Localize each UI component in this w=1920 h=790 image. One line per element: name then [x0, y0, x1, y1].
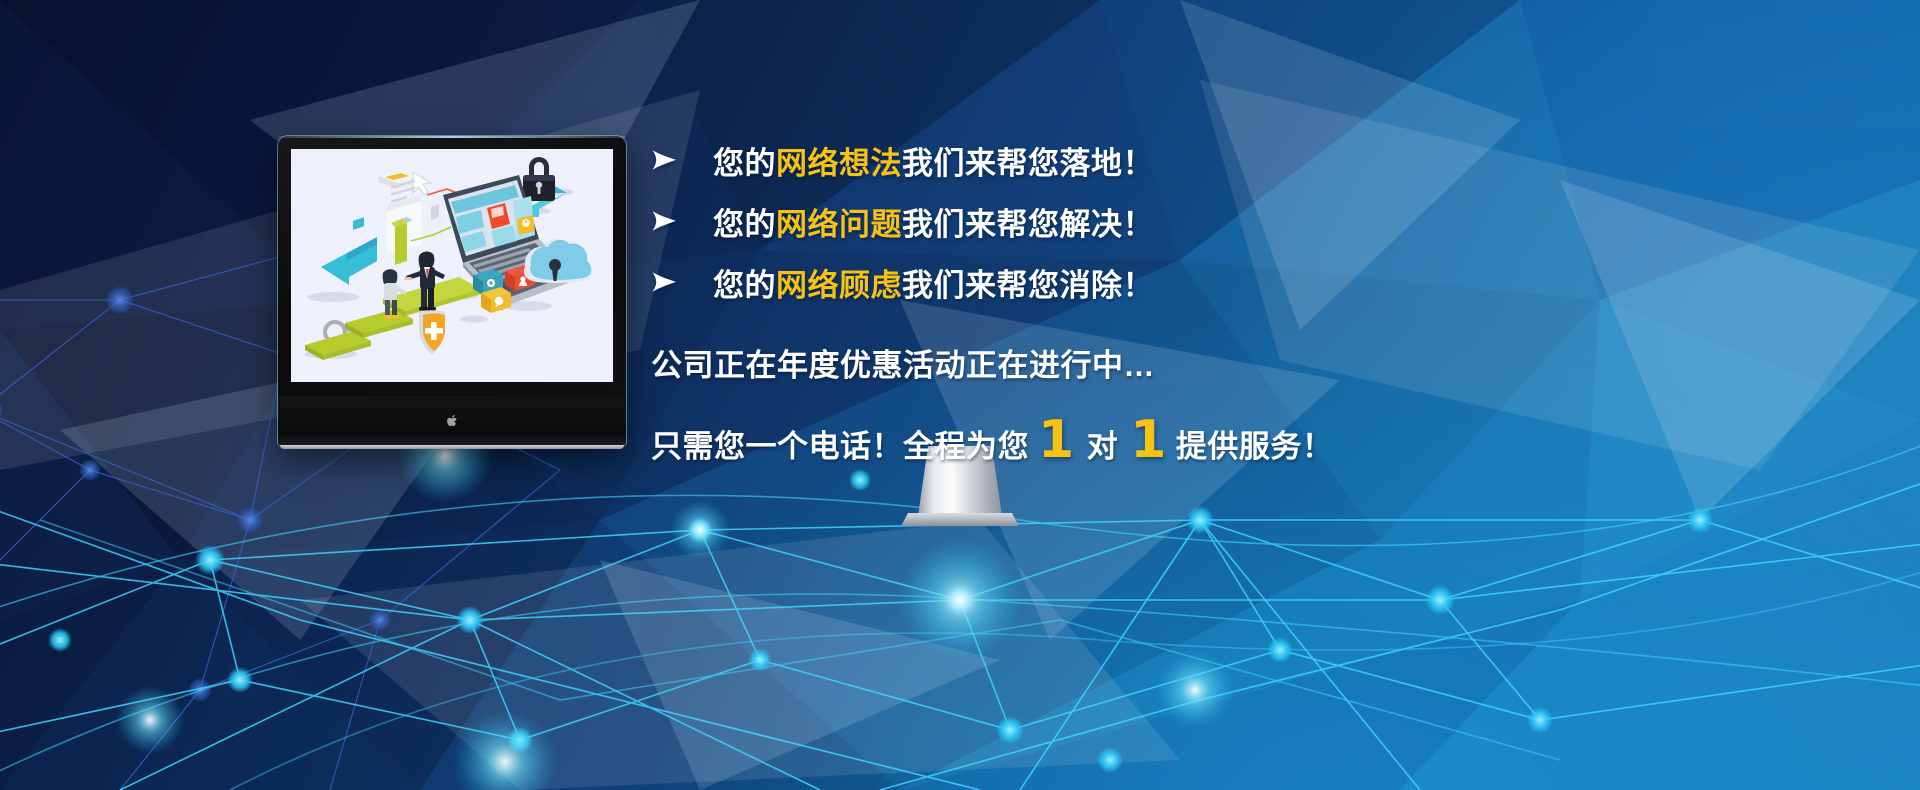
bullet-item-1: 您的网络想法我们来帮您落地！ [651, 130, 1431, 190]
number-one-second: 1 [1121, 417, 1176, 464]
bullet-item-3: 您的网络顾虑我们来帮您消除！ [651, 252, 1431, 312]
arrow-bullet-icon [651, 208, 687, 234]
monitor-chin [278, 396, 626, 446]
bullet-suffix-2: 我们来帮您解决！ [902, 207, 1154, 242]
promo-between-word: 对 [1084, 421, 1122, 466]
bullet-highlight-2: 网络问题 [776, 207, 902, 242]
hero-banner: 您的网络想法我们来帮您落地！ 您的网络问题我们来帮您解决！ 您的网络顾虑我们来帮… [0, 0, 1920, 790]
arrow-bullet-icon [651, 269, 687, 295]
imac-monitor [278, 136, 626, 446]
bullet-item-2: 您的网络问题我们来帮您解决！ [651, 191, 1431, 251]
promo-line2-part1: 只需您一个电话！全程为您 [651, 421, 1029, 466]
bullet-prefix-1: 您的 [713, 146, 776, 181]
bullet-highlight-3: 网络顾虑 [776, 268, 902, 303]
bullet-prefix-3: 您的 [713, 268, 776, 303]
apple-logo-icon [446, 414, 459, 429]
promo-line-1: 公司正在年度优惠活动正在进行中… [651, 340, 1431, 385]
monitor-stand-base [901, 513, 1019, 526]
arrow-bullet-icon [651, 147, 687, 173]
number-one-first: 1 [1029, 417, 1084, 464]
bullet-prefix-2: 您的 [713, 207, 776, 242]
promo-line-2: 只需您一个电话！全程为您 1 对 1 提供服务！ [651, 417, 1431, 466]
marketing-copy: 您的网络想法我们来帮您落地！ 您的网络问题我们来帮您解决！ 您的网络顾虑我们来帮… [651, 130, 1431, 466]
bullet-suffix-3: 我们来帮您消除！ [902, 268, 1154, 303]
bullet-highlight-1: 网络想法 [776, 146, 902, 181]
monitor-screen [291, 149, 613, 382]
monitor-foot-edge [280, 445, 624, 449]
bullet-text-3: 您的网络顾虑我们来帮您消除！ [713, 260, 1154, 305]
bullet-text-2: 您的网络问题我们来帮您解决！ [713, 199, 1154, 244]
network-security-illustration [291, 149, 613, 382]
promo-line2-part2: 提供服务！ [1176, 421, 1334, 466]
bullet-text-1: 您的网络想法我们来帮您落地！ [713, 138, 1154, 183]
bullet-suffix-1: 我们来帮您落地！ [902, 146, 1154, 181]
